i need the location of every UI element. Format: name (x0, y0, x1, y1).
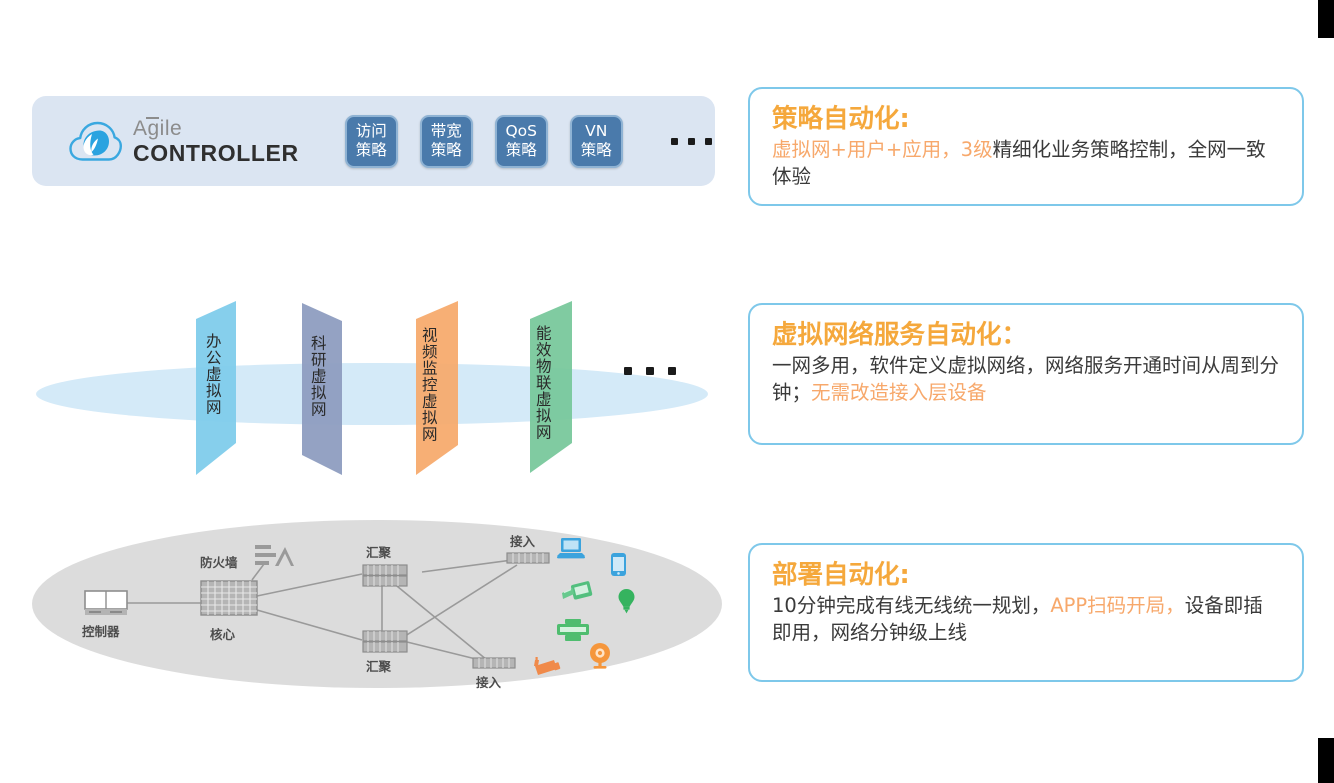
chip-vn-policy[interactable]: VN 策略 (570, 115, 623, 168)
aggregation-switch-lower-node[interactable] (362, 630, 408, 654)
firewall-node[interactable] (255, 542, 295, 570)
video-surveillance-vn-plane: 视频监控虚拟网 (384, 285, 472, 475)
laptop-icon (556, 537, 586, 561)
vn-service-body: 一网多用，软件定义虚拟网络，网络服务开通时间从周到分钟；无需改造接入层设备 (772, 353, 1282, 406)
agile-controller-logo: Agile CONTROLLER (68, 118, 299, 165)
virtual-network-planes-diagram: 办公虚拟网 科研虚拟网 视频监控虚拟网 能效物联虚拟网 (32, 285, 715, 500)
light-bulb-icon (617, 588, 636, 614)
deployment-body: 10分钟完成有线无线统一规划，APP扫码开局，设备即插即用，网络分钟级上线 (772, 593, 1282, 646)
chip-line1: VN (585, 122, 607, 141)
policy-body-highlight: 虚拟网+用户+应用，3级 (772, 138, 993, 161)
access-switch-upper-node[interactable] (506, 551, 550, 565)
deploy-body-lead: 10分钟完成有线无线统一规划， (772, 594, 1050, 617)
bottom-right-black-bar (1318, 738, 1334, 783)
chip-qos-policy[interactable]: QoS 策略 (495, 115, 548, 168)
chip-line2: 策略 (581, 141, 612, 160)
core-switch-node[interactable] (200, 580, 258, 616)
virtual-network-service-automation-card: 虚拟网络服务自动化： 一网多用，软件定义虚拟网络，网络服务开通时间从周到分钟；无… (748, 303, 1304, 445)
deploy-body-highlight: APP扫码开局， (1050, 594, 1184, 617)
access-switch-lower-node[interactable] (472, 656, 516, 670)
webcam-icon (587, 642, 613, 669)
policy-automation-card: 策略自动化: 虚拟网+用户+应用，3级精细化业务策略控制，全网一致体验 (748, 87, 1304, 206)
chip-line1: 访问 (356, 122, 387, 141)
controller-label: 控制器 (82, 621, 120, 640)
chip-line1: QoS (505, 122, 537, 141)
ellipsis-dot (671, 138, 678, 145)
vn-service-title: 虚拟网络服务自动化： (772, 321, 1282, 350)
chip-line1: 带宽 (431, 122, 462, 141)
top-right-black-bar (1318, 0, 1334, 38)
deployment-title: 部署自动化: (772, 561, 1282, 590)
chip-line2: 策略 (356, 141, 387, 160)
deployment-automation-card: 部署自动化: 10分钟完成有线无线统一规划，APP扫码开局，设备即插即用，网络分… (748, 543, 1304, 682)
policy-automation-title: 策略自动化: (772, 105, 1282, 134)
policy-chip-group: 访问 策略 带宽 策略 QoS 策略 VN 策略 (345, 115, 712, 168)
ellipsis-dot (705, 138, 712, 145)
chip-line2: 策略 (431, 141, 462, 160)
ellipsis-dot (668, 367, 676, 375)
controller-node[interactable] (84, 590, 128, 616)
ellipsis-dot (688, 138, 695, 145)
research-vn-plane: 科研虚拟网 (274, 285, 354, 475)
agile-controller-banner: Agile CONTROLLER 访问 策略 带宽 策略 QoS 策略 VN 策… (32, 96, 715, 186)
access-upper-label: 接入 (510, 531, 535, 550)
smartphone-icon (610, 552, 627, 577)
slide-root: Agile CONTROLLER 访问 策略 带宽 策略 QoS 策略 VN 策… (0, 0, 1334, 783)
ellipsis-dot (646, 367, 654, 375)
policy-more-ellipsis[interactable] (671, 138, 712, 145)
vn-body-highlight: 无需改造接入层设备 (811, 381, 987, 404)
cloud-swirl-icon (68, 118, 122, 165)
network-topology-diagram: 控制器 防火墙 (32, 520, 722, 692)
ellipsis-dot (624, 367, 632, 375)
access-lower-label: 接入 (476, 672, 501, 691)
energy-iot-vn-plane: 能效物联虚拟网 (500, 285, 588, 475)
planes-more-ellipsis[interactable] (624, 367, 676, 375)
network-backbone-ellipse (36, 363, 708, 425)
chip-line2: 策略 (506, 141, 537, 160)
energy-meter-icon (560, 580, 594, 604)
aggregation-upper-label: 汇聚 (366, 542, 391, 561)
logo-agile-label: Agile (133, 117, 182, 140)
logo-agile-text: Agile (133, 118, 182, 139)
video-surveillance-vn-label: 视频监控虚拟网 (420, 327, 437, 443)
office-vn-label: 办公虚拟网 (204, 333, 221, 416)
office-vn-plane: 办公虚拟网 (158, 285, 238, 475)
research-vn-label: 科研虚拟网 (309, 335, 326, 418)
aggregation-switch-upper-node[interactable] (362, 564, 408, 588)
logo-controller-label: CONTROLLER (133, 142, 299, 165)
energy-iot-vn-label: 能效物联虚拟网 (534, 325, 551, 441)
core-switch-label: 核心 (210, 624, 235, 643)
chip-access-policy[interactable]: 访问 策略 (345, 115, 398, 168)
chip-bandwidth-policy[interactable]: 带宽 策略 (420, 115, 473, 168)
firewall-label: 防火墙 (200, 552, 238, 571)
policy-automation-body: 虚拟网+用户+应用，3级精细化业务策略控制，全网一致体验 (772, 137, 1282, 190)
printer-icon (556, 618, 590, 642)
aggregation-lower-label: 汇聚 (366, 656, 391, 675)
security-camera-icon (529, 656, 563, 680)
